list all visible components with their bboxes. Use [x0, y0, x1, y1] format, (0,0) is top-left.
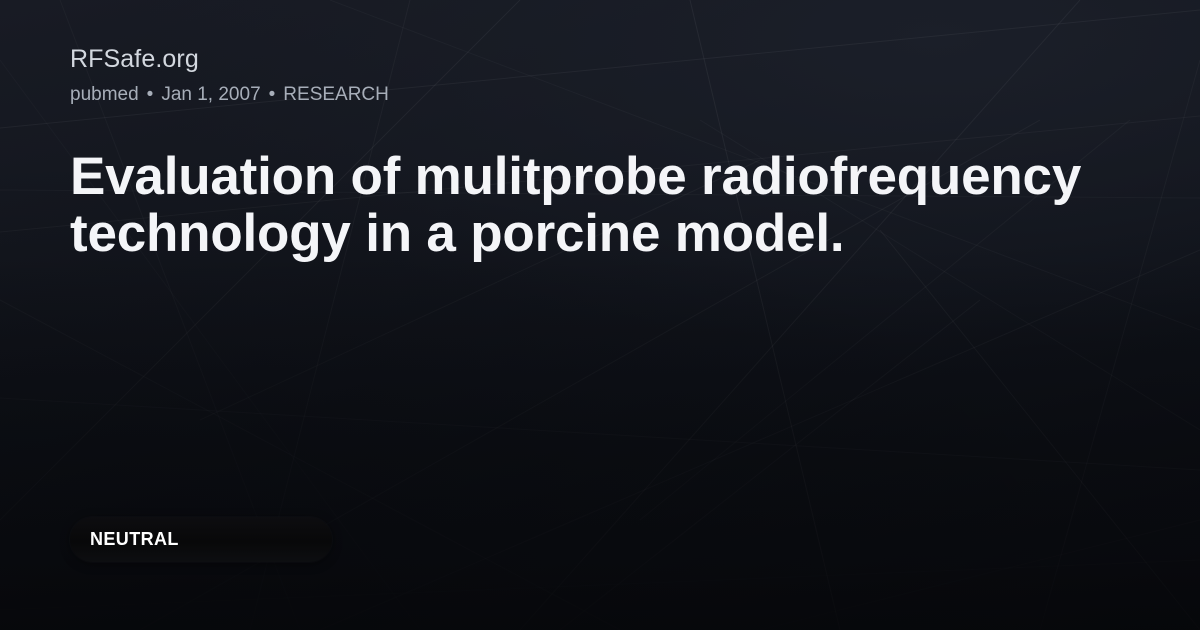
meta-separator-1: •	[147, 83, 154, 107]
meta-category: RESEARCH	[283, 83, 389, 107]
status-badge: NEUTRAL	[70, 517, 332, 562]
social-preview-card: RFSafe.org pubmed • Jan 1, 2007 • RESEAR…	[0, 0, 1200, 630]
status-badge-label: NEUTRAL	[90, 529, 179, 550]
meta-source: pubmed	[70, 83, 139, 107]
meta-separator-2: •	[269, 83, 276, 107]
meta-date: Jan 1, 2007	[161, 83, 260, 107]
site-name: RFSafe.org	[70, 44, 199, 74]
card-content: RFSafe.org pubmed • Jan 1, 2007 • RESEAR…	[0, 0, 1200, 630]
article-meta: pubmed • Jan 1, 2007 • RESEARCH	[70, 83, 389, 107]
page-title: Evaluation of mulitprobe radiofrequency …	[70, 148, 1135, 262]
